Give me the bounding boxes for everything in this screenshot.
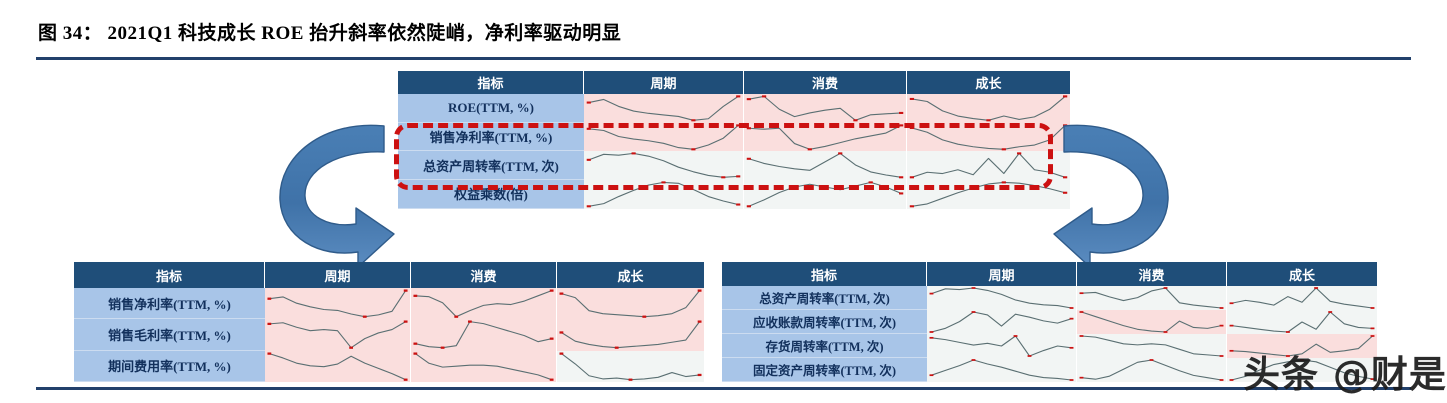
sparkline-cell [584,123,744,152]
row-label: ROE(TTM, %) [398,94,584,123]
sparkline-cell [927,334,1077,358]
sparkline-cell [1227,286,1377,310]
table-body: ROE(TTM, %)销售净利率(TTM, %)总资产周转率(TTM, 次)权益… [398,94,1070,209]
title-divider-top [36,57,1411,60]
column-header-cycle: 周期 [927,262,1077,286]
sparkline-cell [557,319,704,350]
row-label: 权益乘数(倍) [398,180,584,209]
sparkline-cell [584,94,744,123]
column-header-cycle: 周期 [584,71,744,94]
sparkline-cell [411,288,557,319]
row-label: 存货周转率(TTM, 次) [722,334,927,358]
sparkline-cell [1077,286,1227,310]
table-row: 销售净利率(TTM, %) [74,288,704,319]
column-header-indicator: 指标 [398,71,584,94]
sparkline-cell [744,151,907,180]
sparkline-cell [1227,310,1377,334]
profit-margin-table: 指标 周期 消费 成长 销售净利率(TTM, %)销售毛利率(TTM, %)期间… [74,262,704,382]
row-label: 销售毛利率(TTM, %) [74,319,265,350]
row-label: 期间费用率(TTM, %) [74,351,265,382]
table-row: 应收账款周转率(TTM, 次) [722,310,1377,334]
sparkline-cell [744,123,907,152]
row-label: 总资产周转率(TTM, 次) [722,286,927,310]
row-label: 销售净利率(TTM, %) [398,123,584,152]
table-row: 权益乘数(倍) [398,180,1070,209]
sparkline-cell [927,358,1077,382]
table-row: 期间费用率(TTM, %) [74,351,704,382]
sparkline-cell [584,151,744,180]
dupont-decomposition-table: 指标 周期 消费 成长 ROE(TTM, %)销售净利率(TTM, %)总资产周… [398,71,1070,209]
column-header-growth: 成长 [907,71,1070,94]
row-label: 固定资产周转率(TTM, 次) [722,358,927,382]
sparkline-cell [1077,334,1227,358]
column-header-consumption: 消费 [744,71,907,94]
table-row: 总资产周转率(TTM, 次) [398,151,1070,180]
row-label: 应收账款周转率(TTM, 次) [722,310,927,334]
table-row: 销售净利率(TTM, %) [398,123,1070,152]
watermark: 头条 @财是 [1243,344,1447,398]
sparkline-cell [265,351,411,382]
table-row: 总资产周转率(TTM, 次) [722,286,1377,310]
column-header-indicator: 指标 [722,262,927,286]
left-curved-arrow [272,112,402,267]
column-header-growth: 成长 [1227,262,1377,286]
figure-title: 图 34： 2021Q1 科技成长 ROE 抬升斜率依然陡峭，净利率驱动明显 [38,18,621,45]
sparkline-cell [744,94,907,123]
sparkline-cell [557,351,704,382]
table-row: 销售毛利率(TTM, %) [74,319,704,350]
table-row: ROE(TTM, %) [398,94,1070,123]
column-header-indicator: 指标 [74,262,265,288]
sparkline-cell [265,319,411,350]
sparkline-cell [1077,358,1227,382]
table-body: 销售净利率(TTM, %)销售毛利率(TTM, %)期间费用率(TTM, %) [74,288,704,382]
table-header-row: 指标 周期 消费 成长 [722,262,1377,286]
right-curved-arrow [1046,112,1176,267]
sparkline-cell [927,310,1077,334]
column-header-consumption: 消费 [411,262,557,288]
sparkline-cell [1077,310,1227,334]
column-header-consumption: 消费 [1077,262,1227,286]
sparkline-cell [411,351,557,382]
table-header-row: 指标 周期 消费 成长 [74,262,704,288]
row-label: 总资产周转率(TTM, 次) [398,151,584,180]
table-header-row: 指标 周期 消费 成长 [398,71,1070,94]
sparkline-cell [744,180,907,209]
sparkline-cell [411,319,557,350]
figure-divider-bottom [36,387,1411,390]
sparkline-cell [557,288,704,319]
sparkline-cell [584,180,744,209]
column-header-cycle: 周期 [265,262,411,288]
column-header-growth: 成长 [557,262,704,288]
row-label: 销售净利率(TTM, %) [74,288,265,319]
sparkline-cell [265,288,411,319]
sparkline-cell [927,286,1077,310]
